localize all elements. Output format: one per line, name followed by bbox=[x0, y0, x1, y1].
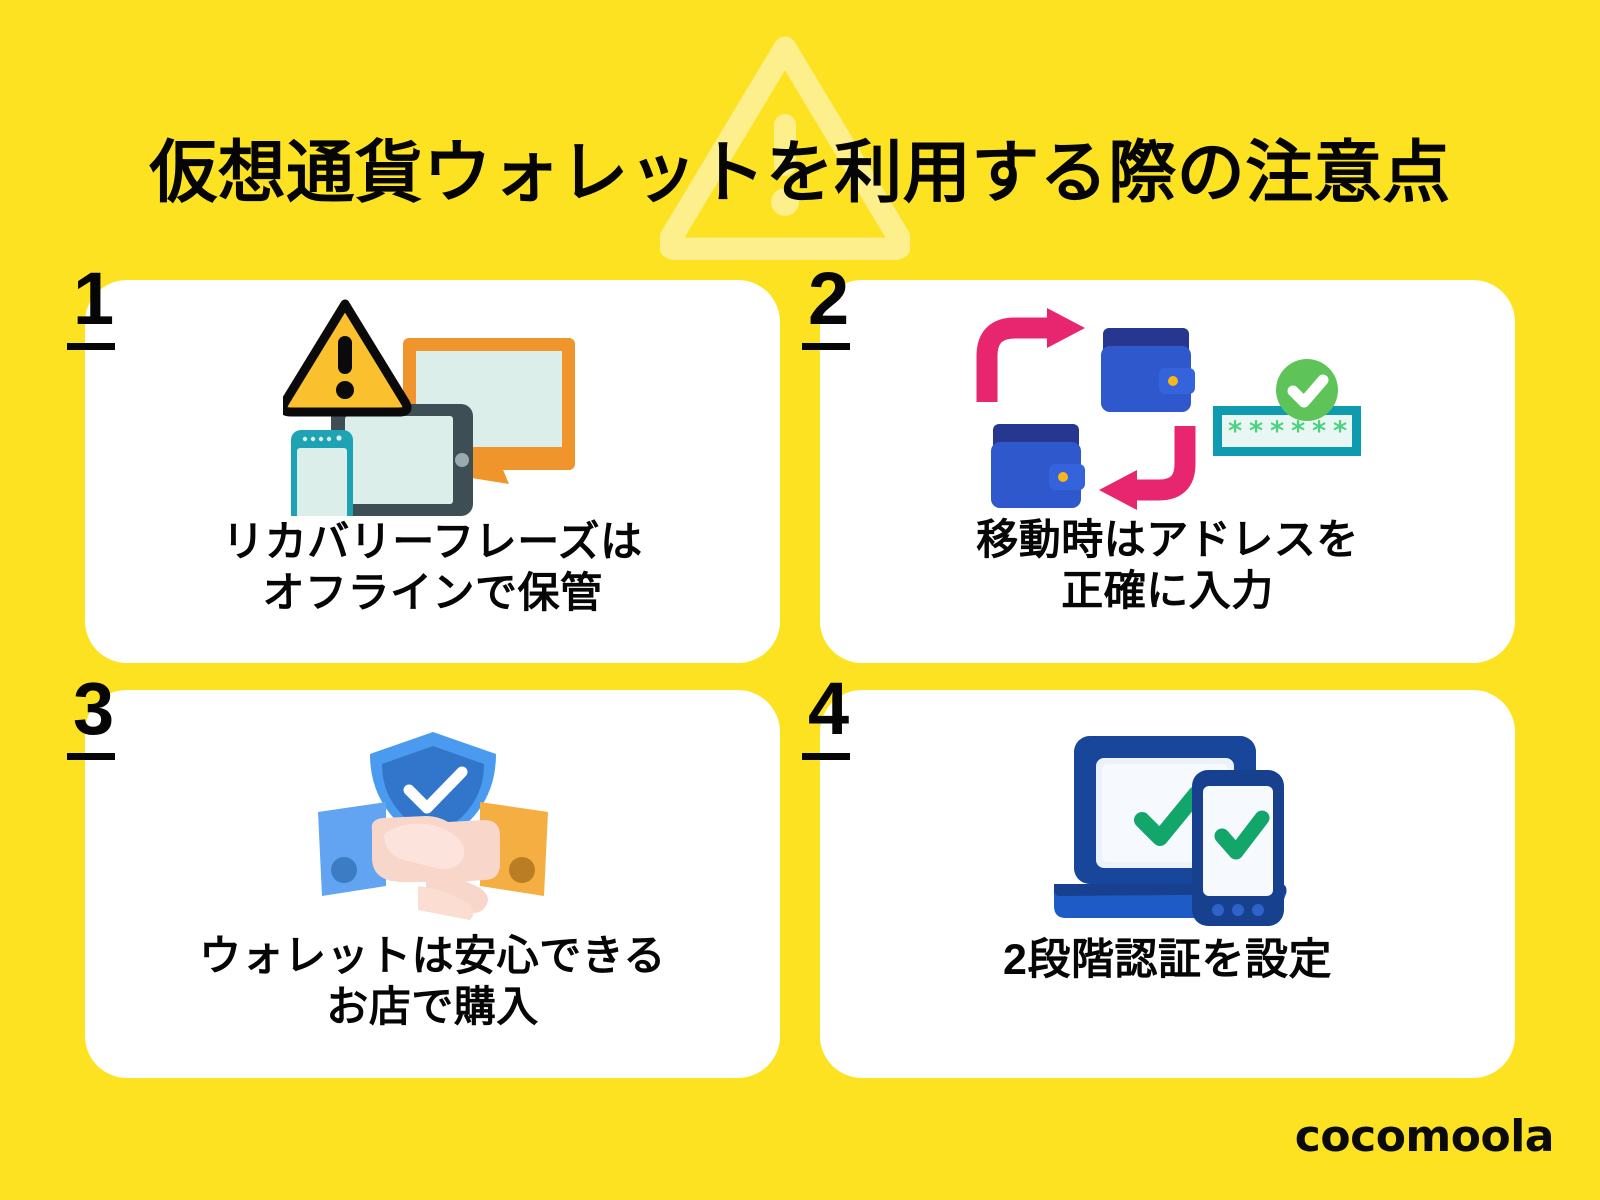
devices-with-warning-icon bbox=[85, 298, 780, 516]
handshake-shield-icon bbox=[85, 718, 780, 930]
svg-text:*: * bbox=[1333, 416, 1347, 447]
svg-text:*: * bbox=[1312, 416, 1326, 447]
laptop-phone-check-icon bbox=[820, 722, 1515, 934]
step-number-3: 3 bbox=[67, 678, 157, 760]
card-1[interactable]: 1 bbox=[85, 280, 780, 663]
infographic-root: 仮想通貨ウォレットを利用する際の注意点 1 bbox=[0, 0, 1600, 1200]
step-number-3-digit: 3 bbox=[67, 678, 157, 741]
step-number-4-rule bbox=[802, 753, 850, 760]
card-4[interactable]: 4 bbox=[820, 690, 1515, 1078]
card-3-caption-line2: お店で購入 bbox=[113, 981, 752, 1032]
card-3[interactable]: 3 bbox=[85, 690, 780, 1078]
step-number-1: 1 bbox=[67, 268, 157, 350]
step-number-2-digit: 2 bbox=[802, 268, 892, 331]
card-1-caption: リカバリーフレーズは オフラインで保管 bbox=[113, 516, 752, 618]
card-3-caption-line1: ウォレットは安心できる bbox=[113, 930, 752, 981]
step-number-4: 4 bbox=[802, 678, 892, 760]
card-1-caption-line2: オフラインで保管 bbox=[113, 567, 752, 618]
svg-text:*: * bbox=[1270, 416, 1284, 447]
step-number-3-rule bbox=[67, 753, 115, 760]
card-4-caption: 2段階認証を設定 bbox=[848, 934, 1487, 986]
card-4-caption-line1: 2段階認証を設定 bbox=[848, 934, 1487, 986]
card-3-caption: ウォレットは安心できる お店で購入 bbox=[113, 930, 752, 1032]
card-1-caption-line1: リカバリーフレーズは bbox=[113, 516, 752, 567]
brand-logo: cocomoola bbox=[1295, 1111, 1554, 1162]
page-title: 仮想通貨ウォレットを利用する際の注意点 bbox=[0, 138, 1600, 209]
step-number-1-digit: 1 bbox=[67, 268, 157, 331]
card-2-caption: 移動時はアドレスを 正確に入力 bbox=[848, 514, 1487, 616]
svg-text:*: * bbox=[1228, 416, 1242, 447]
card-2-caption-line1: 移動時はアドレスを bbox=[848, 514, 1487, 565]
step-number-4-digit: 4 bbox=[802, 678, 892, 741]
wallet-transfer-password-icon: * * * * * * bbox=[820, 302, 1515, 514]
svg-text:*: * bbox=[1249, 416, 1263, 447]
step-number-2: 2 bbox=[802, 268, 892, 350]
card-2-caption-line2: 正確に入力 bbox=[848, 565, 1487, 616]
step-number-2-rule bbox=[802, 343, 850, 350]
step-number-1-rule bbox=[67, 343, 115, 350]
card-2[interactable]: 2 bbox=[820, 280, 1515, 663]
